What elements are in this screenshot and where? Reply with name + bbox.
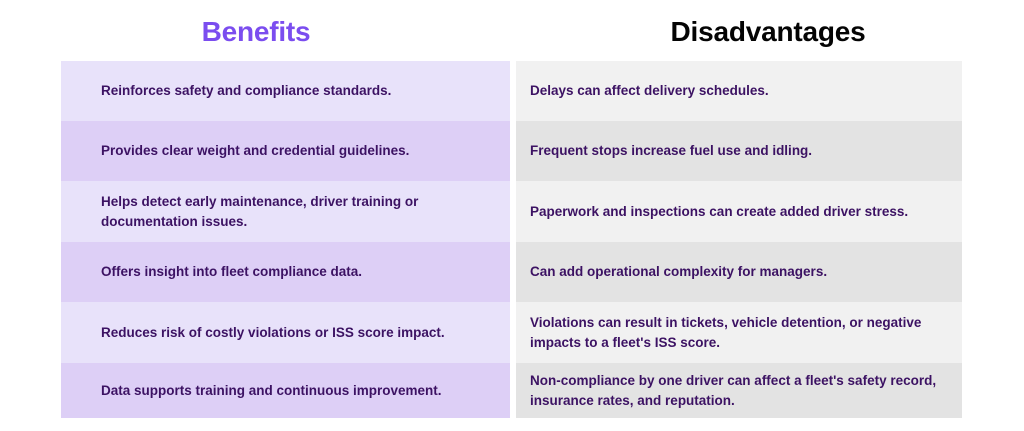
benefits-item-1: Reinforces safety and compliance standar… [101, 81, 391, 101]
table-row: Helps detect early maintenance, driver t… [61, 181, 510, 242]
benefits-column: Reinforces safety and compliance standar… [61, 61, 510, 418]
benefits-column-title: Benefits [202, 16, 311, 46]
comparison-table-figure: Benefits Disadvantages Reinforces safety… [0, 0, 1024, 431]
table-header-row: Benefits Disadvantages [0, 0, 1024, 61]
benefits-item-5: Reduces risk of costly violations or ISS… [101, 323, 445, 343]
table-body: Reinforces safety and compliance standar… [61, 61, 962, 418]
table-row: Frequent stops increase fuel use and idl… [516, 121, 962, 181]
disadvantages-item-6: Non-compliance by one driver can affect … [530, 371, 944, 410]
table-row: Can add operational complexity for manag… [516, 242, 962, 302]
benefits-item-4: Offers insight into fleet compliance dat… [101, 262, 362, 282]
table-row: Delays can affect delivery schedules. [516, 61, 962, 121]
table-row: Data supports training and continuous im… [61, 363, 510, 418]
benefits-item-6: Data supports training and continuous im… [101, 381, 442, 401]
disadvantages-column-title: Disadvantages [670, 16, 865, 46]
table-row: Reinforces safety and compliance standar… [61, 61, 510, 121]
table-row: Reduces risk of costly violations or ISS… [61, 302, 510, 363]
disadvantages-item-2: Frequent stops increase fuel use and idl… [530, 141, 812, 161]
disadvantages-header-cell: Disadvantages [512, 0, 1024, 61]
benefits-item-2: Provides clear weight and credential gui… [101, 141, 409, 161]
disadvantages-item-1: Delays can affect delivery schedules. [530, 81, 769, 101]
disadvantages-item-5: Violations can result in tickets, vehicl… [530, 313, 944, 352]
table-row: Non-compliance by one driver can affect … [516, 363, 962, 418]
disadvantages-item-4: Can add operational complexity for manag… [530, 262, 827, 282]
benefits-item-3: Helps detect early maintenance, driver t… [101, 192, 492, 231]
table-row: Offers insight into fleet compliance dat… [61, 242, 510, 302]
table-row: Violations can result in tickets, vehicl… [516, 302, 962, 363]
table-row: Paperwork and inspections can create add… [516, 181, 962, 242]
disadvantages-item-3: Paperwork and inspections can create add… [530, 202, 908, 222]
benefits-header-cell: Benefits [0, 0, 512, 61]
table-row: Provides clear weight and credential gui… [61, 121, 510, 181]
disadvantages-column: Delays can affect delivery schedules. Fr… [516, 61, 962, 418]
